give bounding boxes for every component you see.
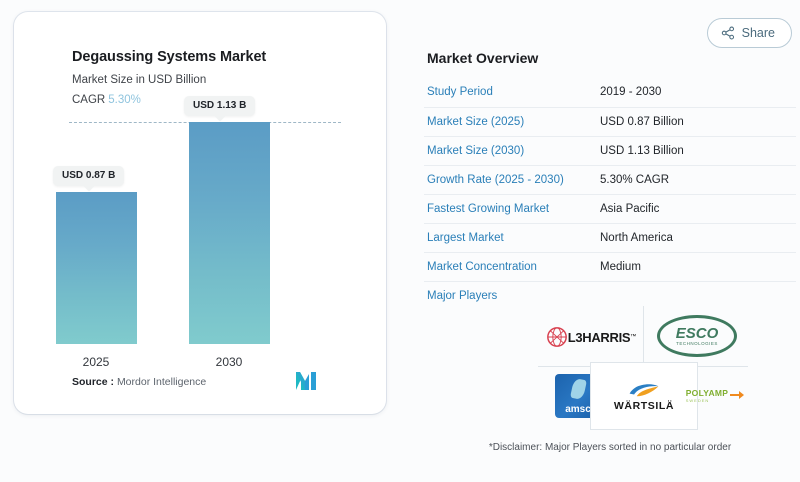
player-label-polyamp: POLYAMP bbox=[686, 388, 729, 398]
player-label-esco: ESCO bbox=[676, 326, 719, 341]
bar-2030 bbox=[189, 122, 270, 344]
chart-subtitle: Market Size in USD Billion bbox=[72, 73, 386, 88]
x-axis-tick-2025: 2025 bbox=[46, 355, 146, 369]
row-value: USD 1.13 Billion bbox=[597, 136, 796, 165]
chart-footer: Source : Mordor Intelligence bbox=[14, 370, 386, 404]
row-key: Market Size (2025) bbox=[424, 107, 597, 136]
table-row: Market Size (2030) USD 1.13 Billion bbox=[424, 136, 796, 165]
row-key: Study Period bbox=[424, 78, 597, 107]
player-label-l3harris: L3HARRIS bbox=[568, 330, 631, 345]
table-row: Growth Rate (2025 - 2030) 5.30% CAGR bbox=[424, 165, 796, 194]
player-logo-esco: ESCO TECHNOLOGIES bbox=[648, 308, 746, 364]
amsc-swoosh-icon bbox=[570, 378, 587, 400]
wartsila-swirl-icon bbox=[625, 381, 663, 399]
source-label: Source : bbox=[72, 376, 114, 388]
row-value: USD 0.87 Billion bbox=[597, 107, 796, 136]
major-players-grid: L3HARRIS™ ESCO TECHNOLOGIES amsc bbox=[538, 306, 748, 428]
row-value: Medium bbox=[597, 252, 796, 281]
table-row: Study Period 2019 - 2030 bbox=[424, 78, 796, 107]
player-logo-wartsila: WÄRTSILÄ bbox=[590, 362, 698, 430]
market-overview-table: Study Period 2019 - 2030 Market Size (20… bbox=[424, 78, 796, 310]
chart-header: Degaussing Systems Market Market Size in… bbox=[14, 12, 386, 108]
right-panel: Share Market Overview Study Period 2019 … bbox=[410, 0, 800, 482]
market-overview-title: Market Overview bbox=[427, 50, 538, 66]
row-key: Growth Rate (2025 - 2030) bbox=[424, 165, 597, 194]
row-value: 2019 - 2030 bbox=[597, 78, 796, 107]
player-logo-polyamp: POLYAMP SWEDEN bbox=[684, 374, 746, 416]
page-title: Degaussing Systems Market bbox=[72, 48, 386, 67]
bar-value-label-2025: USD 0.87 B bbox=[53, 166, 124, 186]
row-value: 5.30% CAGR bbox=[597, 165, 796, 194]
bar-chart-plot: USD 0.87 B USD 1.13 B 2025 2030 bbox=[14, 122, 386, 372]
player-sublabel-polyamp: SWEDEN bbox=[686, 398, 729, 403]
player-label-wartsila: WÄRTSILÄ bbox=[614, 400, 674, 412]
player-sublabel-esco: TECHNOLOGIES bbox=[676, 342, 718, 347]
esco-ellipse: ESCO TECHNOLOGIES bbox=[657, 315, 737, 357]
row-value: Asia Pacific bbox=[597, 194, 796, 223]
disclaimer-text: *Disclaimer: Major Players sorted in no … bbox=[424, 442, 796, 453]
cagr-value: 5.30% bbox=[108, 94, 141, 106]
row-key: Market Concentration bbox=[424, 252, 597, 281]
player-label-amsc: amsc bbox=[565, 404, 591, 415]
trademark-symbol: ™ bbox=[630, 334, 636, 340]
share-button[interactable]: Share bbox=[707, 18, 792, 48]
mordor-intelligence-logo-icon bbox=[296, 372, 320, 390]
row-key: Fastest Growing Market bbox=[424, 194, 597, 223]
cagr-label: CAGR bbox=[72, 94, 105, 106]
share-nodes-icon bbox=[721, 26, 735, 40]
table-row: Largest Market North America bbox=[424, 223, 796, 252]
table-row: Market Concentration Medium bbox=[424, 252, 796, 281]
player-logo-l3harris: L3HARRIS™ bbox=[542, 312, 640, 362]
row-key: Largest Market bbox=[424, 223, 597, 252]
row-value: North America bbox=[597, 223, 796, 252]
source-name: Mordor Intelligence bbox=[117, 376, 206, 388]
bar-2025 bbox=[56, 192, 137, 344]
polyamp-wrap: POLYAMP SWEDEN bbox=[686, 388, 745, 403]
row-key: Market Size (2030) bbox=[424, 136, 597, 165]
market-overview-page: Degaussing Systems Market Market Size in… bbox=[0, 0, 800, 482]
polyamp-arrow-icon bbox=[730, 389, 744, 401]
polyamp-text-block: POLYAMP SWEDEN bbox=[686, 388, 729, 403]
l3harris-globe-icon bbox=[546, 326, 568, 348]
source-attribution: Source : Mordor Intelligence bbox=[72, 376, 206, 388]
share-button-label: Share bbox=[742, 26, 775, 40]
x-axis-tick-2030: 2030 bbox=[179, 355, 279, 369]
table-row: Market Size (2025) USD 0.87 Billion bbox=[424, 107, 796, 136]
bar-value-label-2030: USD 1.13 B bbox=[184, 96, 255, 116]
chart-card: Degaussing Systems Market Market Size in… bbox=[14, 12, 386, 414]
table-row: Fastest Growing Market Asia Pacific bbox=[424, 194, 796, 223]
